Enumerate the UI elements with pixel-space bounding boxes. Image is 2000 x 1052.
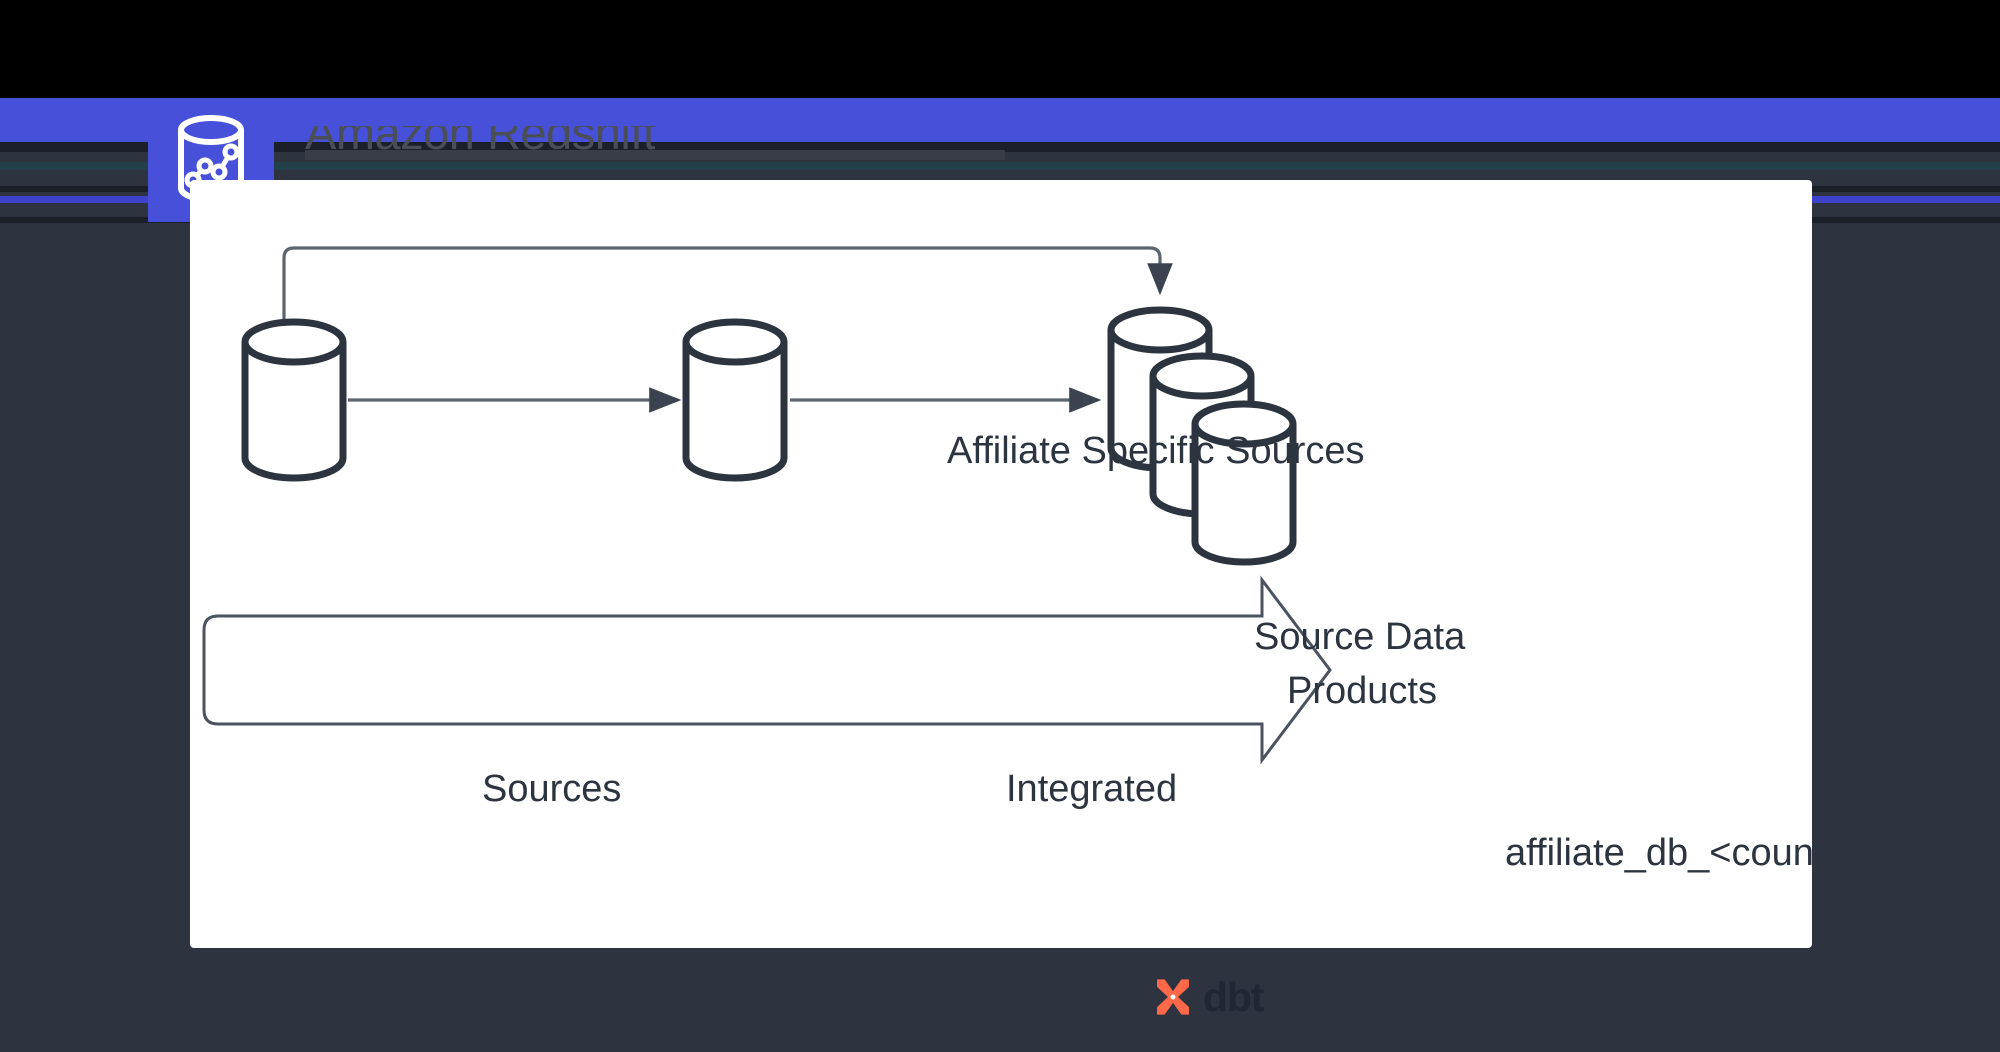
node-label-sources: Sources xyxy=(482,768,621,811)
title-clip-mask-top xyxy=(305,104,1005,126)
screenshot-canvas: Amazon Redshift xyxy=(0,0,2000,1052)
artifact-stripe xyxy=(0,162,2000,170)
node-label-integrated: Integrated xyxy=(1006,768,1177,811)
edge-label-source-data-line1: Source Data xyxy=(1254,616,1465,659)
node-integrated xyxy=(686,322,784,478)
node-label-affiliate-db: affiliate_db_<country> xyxy=(1505,832,1878,875)
dbt-label: dbt xyxy=(1203,977,1263,1018)
edge-label-source-data-line2: Products xyxy=(1287,670,1437,713)
node-sources xyxy=(245,322,343,478)
diagram-card: Affiliate Specific Sources Sources Integ… xyxy=(190,180,1812,948)
edge-label-affiliate-specific-sources: Affiliate Specific Sources xyxy=(947,430,1365,473)
edge-sources-to-affiliate xyxy=(284,248,1160,328)
dbt-x-icon xyxy=(1152,976,1194,1018)
title-clip-mask-bottom xyxy=(305,150,1005,160)
dbt-process-arrow xyxy=(204,580,1330,760)
dbt-logo: dbt xyxy=(1152,976,1263,1018)
